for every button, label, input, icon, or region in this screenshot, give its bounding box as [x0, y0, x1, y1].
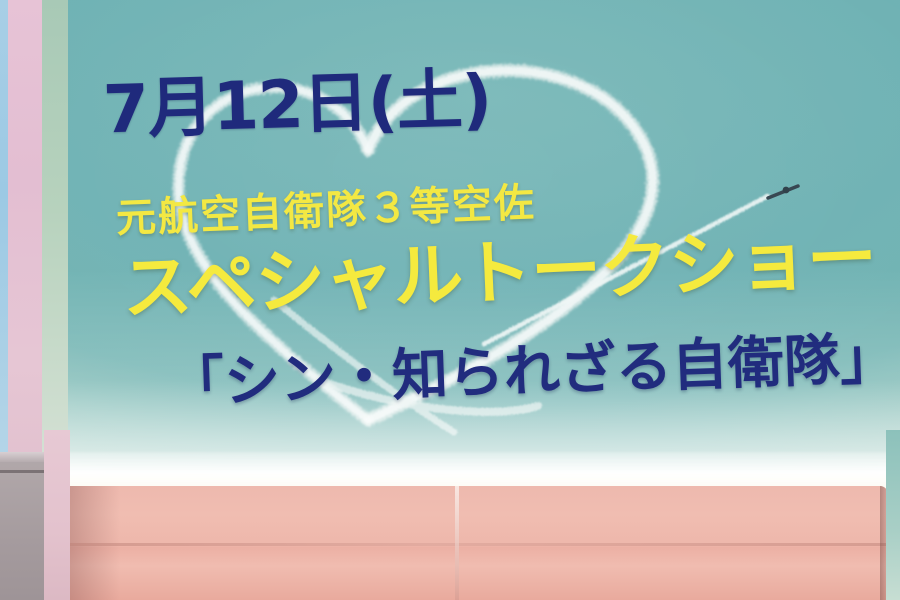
photo-scene: 7月12日(土) 元航空自衛隊３等空佐 スペシャルトークショー 「シン・知られざ…: [0, 0, 900, 600]
sofa-vertical-seam: [455, 486, 459, 600]
slide-line-date: 7月12日(土): [102, 67, 492, 144]
slide-line-rank: 元航空自衛隊３等空佐: [115, 183, 536, 239]
sofa-horizontal-seam: [62, 543, 888, 546]
right-wall-strip: [886, 430, 900, 600]
slide-line-talktitle: 「シン・知られざる自衛隊」: [167, 331, 897, 412]
lower-left-pink-column: [44, 430, 70, 600]
